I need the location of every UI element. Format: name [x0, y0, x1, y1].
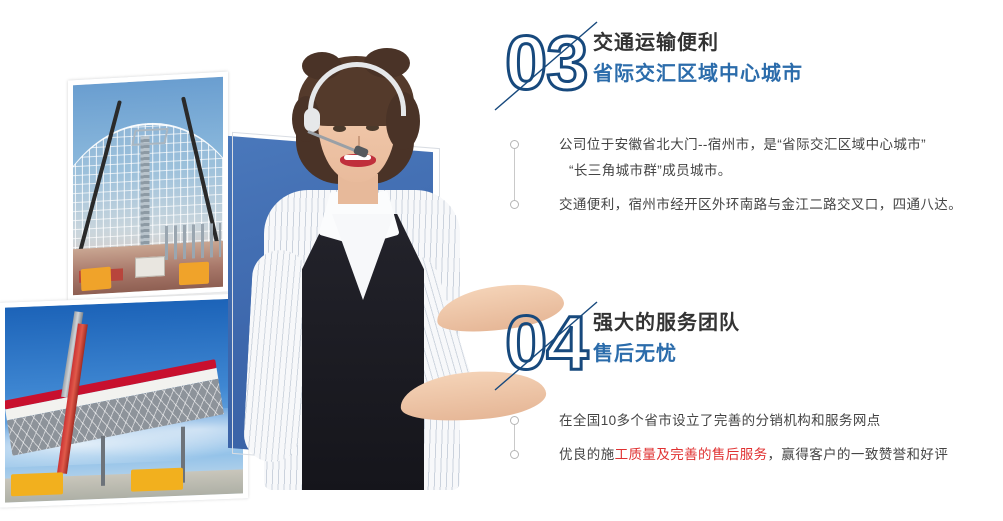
feature-titles-03: 交通运输便利 省际交汇区域中心城市: [593, 28, 803, 90]
feature-block-04: 04 强大的服务团队 售后无忧 在全国10多个省市设立了完善的分销机构和服务网点…: [505, 302, 948, 476]
promo-banner: 03 交通运输便利 省际交汇区域中心城市 公司位于安徽省北大门--宿州市，是“省…: [0, 0, 1003, 521]
yellow-truck-right: [131, 468, 183, 492]
bullet-dot-icon: [510, 140, 519, 149]
bullet-text-pre: 优良的施: [559, 447, 615, 462]
bullet-dot-icon: [510, 416, 519, 425]
bullet-item: 公司位于安徽省北大门--宿州市，是“省际交汇区域中心城市” “长三角城市群”成员…: [559, 132, 962, 184]
feature-bullets-04: 在全国10多个省市设立了完善的分销机构和服务网点 优良的施工质量及完善的售后服务…: [505, 408, 948, 468]
bullet-item: 在全国10多个省市设立了完善的分销机构和服务网点: [559, 408, 948, 434]
teeth: [344, 155, 371, 160]
bullet-item: 优良的施工质量及完善的售后服务，赢得客户的一致赞誉和好评: [559, 442, 948, 468]
feature-title-sub-03: 省际交汇区域中心城市: [593, 58, 803, 90]
bullet-text-highlight: 工质量及完善的售后服务: [615, 447, 768, 462]
bullet-text-line1: 交通便利，宿州市经开区外环南路与金江二路交叉口，四通八达。: [559, 197, 962, 212]
bullet-text-line2: “长三角城市群”成员城市。: [559, 158, 962, 184]
center-mast: [141, 136, 150, 254]
yellow-crane-right: [179, 262, 209, 286]
eye-left: [333, 125, 346, 132]
feature-number-04: 04: [505, 302, 587, 386]
feature-number-wrap-03: 03: [505, 22, 587, 110]
left-sleeve: [242, 249, 309, 464]
space-frame-dome-construction-photo: [68, 72, 228, 301]
feature-number-03: 03: [505, 22, 587, 106]
bullet-dot-icon: [510, 450, 519, 459]
mast-cap: [131, 128, 168, 146]
feature-titles-04: 强大的服务团队 售后无忧: [593, 308, 740, 370]
feature-title-main-04: 强大的服务团队: [593, 308, 740, 338]
column-row: [165, 223, 221, 260]
photo-collage: [0, 0, 500, 521]
bullet-text-line1: 公司位于安徽省北大门--宿州市，是“省际交汇区域中心城市”: [559, 137, 926, 152]
feature-title-sub-04: 售后无忧: [593, 338, 740, 370]
bullet-item: 交通便利，宿州市经开区外环南路与金江二路交叉口，四通八达。: [559, 192, 962, 218]
yellow-truck-left: [11, 472, 63, 496]
feature-header-03: 03 交通运输便利 省际交汇区域中心城市: [505, 22, 962, 126]
bullet-rail: [514, 143, 515, 205]
headset-earpad: [304, 108, 320, 132]
bullet-text-line1: 在全国10多个省市设立了完善的分销机构和服务网点: [559, 413, 881, 428]
canopy-roof-crane-lift-photo: [0, 293, 248, 508]
feature-number-wrap-04: 04: [505, 302, 587, 390]
bullet-dot-icon: [510, 200, 519, 209]
feature-bullets-03: 公司位于安徽省北大门--宿州市，是“省际交汇区域中心城市” “长三角城市群”成员…: [505, 132, 962, 218]
bullet-text-post: ，赢得客户的一致赞誉和好评: [768, 447, 949, 462]
headset-customer-service-woman-photo: [236, 44, 488, 514]
feature-header-04: 04 强大的服务团队 售后无忧: [505, 302, 948, 406]
site-container: [135, 256, 165, 278]
feature-block-03: 03 交通运输便利 省际交汇区域中心城市 公司位于安徽省北大门--宿州市，是“省…: [505, 22, 962, 226]
feature-title-main-03: 交通运输便利: [593, 28, 803, 58]
yellow-crane-left: [81, 267, 112, 292]
support-column-1: [101, 436, 105, 486]
